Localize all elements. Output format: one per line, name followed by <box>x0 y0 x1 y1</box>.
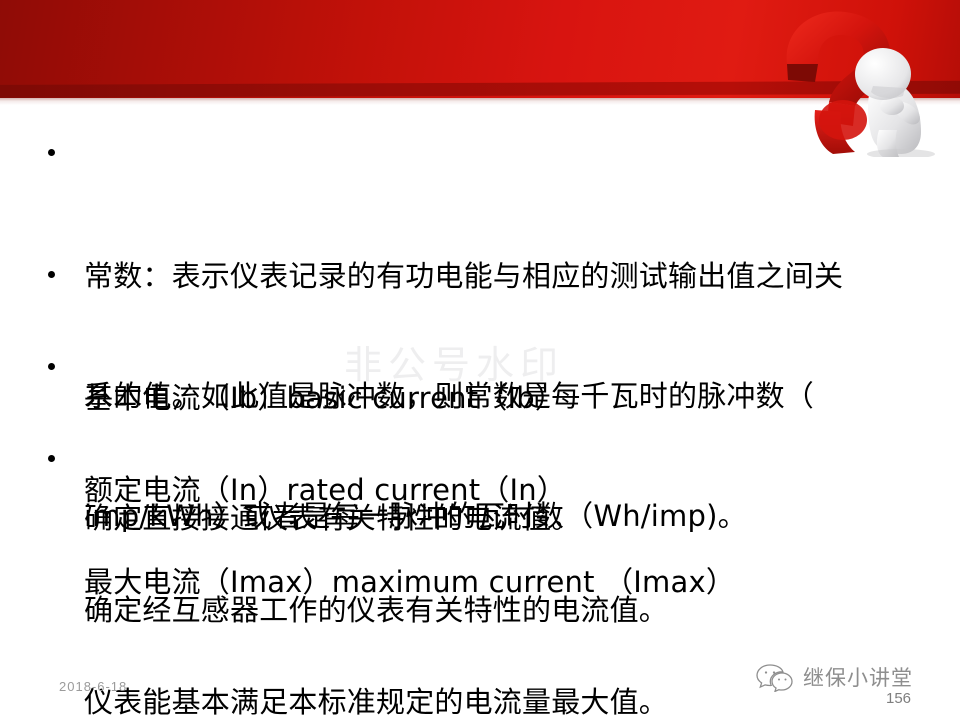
page-number: 156 <box>886 690 911 707</box>
bullet-marker-icon <box>48 455 55 462</box>
bullet-line: 最大电流（Imax）maximum current （Imax） <box>84 562 944 602</box>
brand-name: 继保小讲堂 <box>803 662 913 692</box>
bullet-marker-icon <box>48 271 55 278</box>
slide-canvas: 非公号水印 常数：表示仪表记录的有功电能与相应的测试输出值之间关 系的值。如此值… <box>0 0 960 720</box>
bullet-marker-icon <box>48 363 55 370</box>
brand-watermark: 继保小讲堂 <box>756 662 913 692</box>
bullet-marker-icon <box>48 149 55 156</box>
wechat-icon <box>756 662 796 692</box>
slide-body: 常数：表示仪表记录的有功电能与相应的测试输出值之间关 系的值。如此值是脉冲数，则… <box>0 0 960 720</box>
slide-date: 2018-6-18 <box>59 679 127 694</box>
